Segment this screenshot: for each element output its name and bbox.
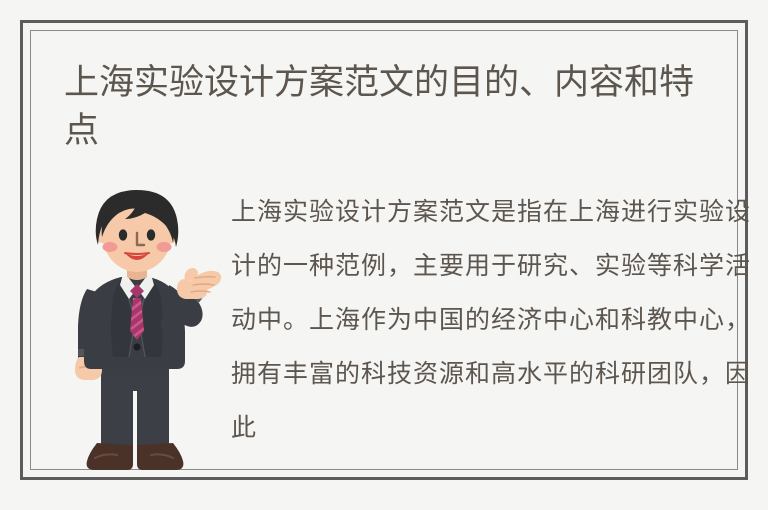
shoes-shape: [87, 443, 184, 470]
right-cheek: [157, 242, 172, 252]
article-card: 上海实验设计方案范文的目的、内容和特点: [20, 20, 748, 480]
businessman-presenting-illustration: [73, 181, 223, 486]
left-eye: [119, 229, 127, 240]
article-card-inner-frame: 上海实验设计方案范文的目的、内容和特点: [30, 30, 738, 470]
trousers-shape: [101, 359, 169, 455]
article-body: 上海实验设计方案范文是指在上海进行实验设计的一种范例，主要用于研究、实验等科学活…: [31, 171, 737, 469]
right-eye: [147, 229, 155, 240]
page-title: 上海实验设计方案范文的目的、内容和特点: [64, 59, 719, 155]
left-cheek: [103, 242, 118, 252]
open-hand-shape: [177, 268, 221, 299]
article-body-text: 上海实验设计方案范文是指在上海进行实验设计的一种范例，主要用于研究、实验等科学活…: [231, 185, 750, 455]
